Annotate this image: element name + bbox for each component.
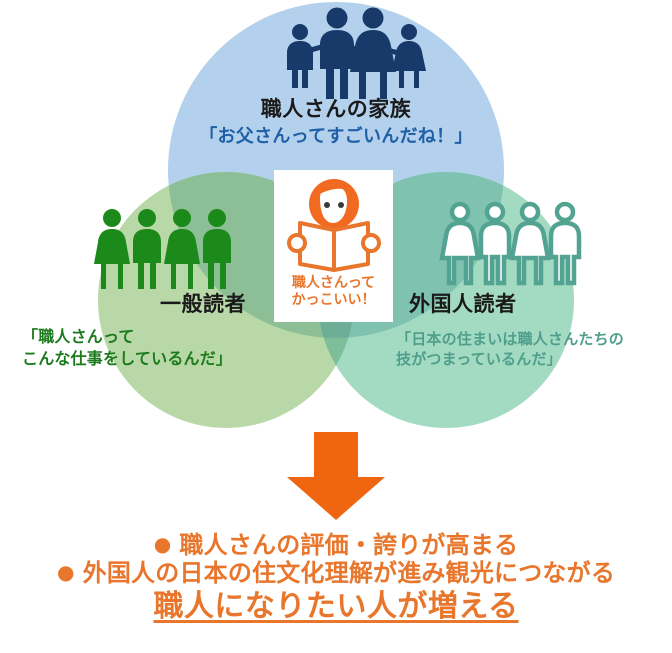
bullet-icon: ● bbox=[57, 560, 75, 584]
conclusion-line-1-text: 職人さんの評価・誇りが高まる bbox=[179, 531, 518, 559]
reading-person-icon bbox=[280, 174, 388, 274]
down-arrow-icon bbox=[281, 430, 391, 522]
center-caption-line1: 職人さんって bbox=[292, 275, 376, 292]
conclusion-final: 職人になりたい人が増える bbox=[0, 588, 672, 626]
conclusion-line-2-text: 外国人の日本の住文化理解が進み観光につながる bbox=[83, 559, 615, 587]
left-circle-quote: 「職人さんって こんな仕事をしているんだ」 bbox=[22, 326, 232, 369]
conclusion-line-2: ●外国人の日本の住文化理解が進み観光につながる bbox=[0, 559, 672, 587]
top-circle-label: 職人さんの家族 bbox=[0, 93, 672, 123]
center-caption: 職人さんって かっこいい！ bbox=[292, 275, 376, 309]
right-circle-quote: 「日本の住まいは職人さんたちの 技がつまっているんだ」 bbox=[396, 329, 624, 370]
left-circle-quote-line2: こんな仕事をしているんだ」 bbox=[22, 348, 232, 370]
bullet-icon: ● bbox=[154, 532, 172, 556]
center-caption-line2: かっこいい！ bbox=[292, 292, 376, 309]
center-card: 職人さんって かっこいい！ bbox=[274, 170, 393, 322]
right-circle-quote-line1: 「日本の住まいは職人さんたちの bbox=[396, 329, 624, 349]
infographic-root: 職人さんの家族 「お父さんってすごいんだね！」 一般読者 「職人さんって こんな… bbox=[0, 0, 672, 653]
right-circle-label: 外国人読者 bbox=[409, 288, 517, 318]
left-circle-quote-line1: 「職人さんって bbox=[22, 326, 232, 348]
top-circle-quote: 「お父さんってすごいんだね！」 bbox=[0, 122, 672, 148]
conclusion-line-1: ●職人さんの評価・誇りが高まる bbox=[0, 531, 672, 559]
left-circle-label: 一般読者 bbox=[160, 288, 246, 318]
arrow-container bbox=[0, 430, 672, 522]
conclusion-block: ●職人さんの評価・誇りが高まる ●外国人の日本の住文化理解が進み観光につながる … bbox=[0, 531, 672, 625]
right-circle-quote-line2: 技がつまっているんだ」 bbox=[396, 349, 624, 369]
